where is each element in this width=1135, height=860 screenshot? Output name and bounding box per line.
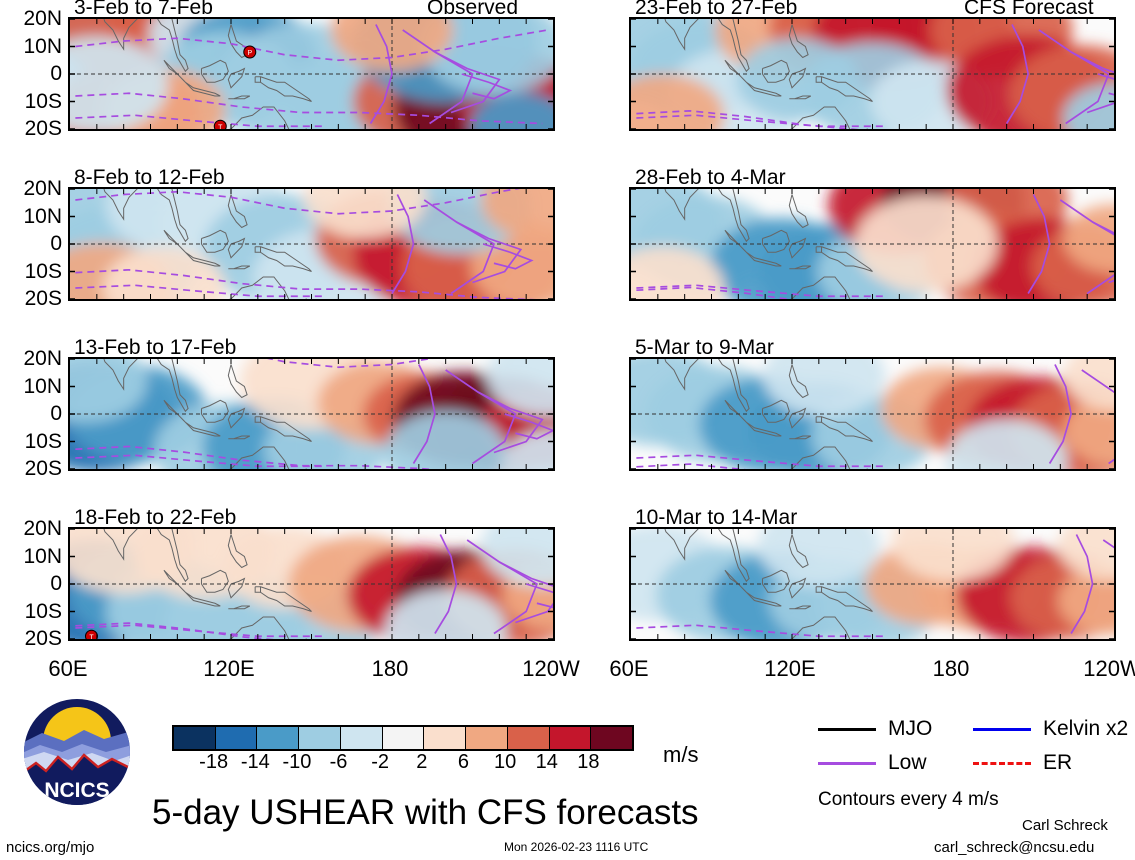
x-tick-label: 120W: [1080, 658, 1135, 680]
author-name: Carl Schreck: [1022, 818, 1108, 833]
x-tick-label: 180: [919, 658, 983, 680]
contours-note: Contours every 4 m/s: [818, 790, 999, 809]
panel-title-p5: 23-Feb to 27-Feb: [635, 0, 797, 18]
y-tick-label: 0: [0, 233, 62, 254]
legend-swatch-kelvin-x2: [973, 728, 1031, 731]
y-tick-label: 10N: [0, 206, 62, 227]
y-tick-label: 10N: [0, 36, 62, 57]
x-tick-label: 120W: [519, 658, 583, 680]
y-tick-label: 10N: [0, 546, 62, 567]
svg-text:T: T: [218, 124, 223, 129]
panel-title-p8: 10-Mar to 14-Mar: [635, 507, 797, 528]
storm-marker: T: [85, 630, 97, 639]
x-tick-label: 120E: [197, 658, 261, 680]
colorbar-swatch: [590, 727, 632, 749]
y-tick-label: 0: [0, 573, 62, 594]
map-panel-p8[interactable]: [629, 527, 1116, 641]
y-tick-label: 0: [0, 403, 62, 424]
ncics-logo: NCICS: [22, 697, 132, 807]
panel-title-p3: 13-Feb to 17-Feb: [74, 337, 236, 358]
y-tick-label: 20N: [0, 8, 62, 29]
y-tick-label: 10N: [0, 376, 62, 397]
svg-text:T: T: [89, 634, 94, 639]
colorbar-swatch: [256, 727, 298, 749]
colorbar-swatch: [298, 727, 340, 749]
panel-title-p7: 5-Mar to 9-Mar: [635, 337, 774, 358]
legend-label-er: ER: [1043, 752, 1072, 773]
colorbar-swatch: [549, 727, 591, 749]
storm-marker: P: [244, 46, 256, 58]
y-tick-label: 20N: [0, 518, 62, 539]
map-panel-p2[interactable]: [68, 187, 555, 301]
legend-swatch-low: [818, 762, 876, 765]
y-tick-label: 20N: [0, 178, 62, 199]
panel-title-p4: 18-Feb to 22-Feb: [74, 507, 236, 528]
main-title: 5-day USHEAR with CFS forecasts: [152, 795, 699, 830]
y-tick-label: 10S: [0, 431, 62, 452]
map-panel-p1[interactable]: PT: [68, 17, 555, 131]
colorbar-swatch: [215, 727, 257, 749]
svg-text:P: P: [247, 50, 252, 57]
colorbar-swatch: [465, 727, 507, 749]
legend-swatch-mjo: [818, 728, 876, 731]
colorbar-swatch: [340, 727, 382, 749]
map-panel-p7[interactable]: [629, 357, 1116, 471]
map-panel-p6[interactable]: [629, 187, 1116, 301]
column-header-left: Observed: [427, 0, 518, 18]
column-header-right: CFS Forecast: [964, 0, 1094, 18]
map-panel-p5[interactable]: [629, 17, 1116, 131]
y-tick-label: 0: [0, 63, 62, 84]
x-tick-label: 120E: [758, 658, 822, 680]
panel-title-p1: 3-Feb to 7-Feb: [74, 0, 213, 18]
site-link[interactable]: ncics.org/mjo: [6, 840, 94, 855]
legend-label-low: Low: [888, 752, 927, 773]
map-panel-p3[interactable]: [68, 357, 555, 471]
y-tick-label: 10S: [0, 261, 62, 282]
colorbar-units: m/s: [663, 744, 698, 766]
y-tick-label: 10S: [0, 91, 62, 112]
author-email: carl_schreck@ncsu.edu: [934, 840, 1094, 855]
panel-title-p6: 28-Feb to 4-Mar: [635, 167, 786, 188]
generation-timestamp: Mon 2026-02-23 1116 UTC: [504, 841, 648, 853]
storm-marker: T: [214, 120, 226, 129]
panel-title-p2: 8-Feb to 12-Feb: [74, 167, 225, 188]
y-tick-label: 10S: [0, 601, 62, 622]
colorbar: [172, 725, 634, 751]
x-tick-label: 60E: [36, 658, 100, 680]
y-tick-label: 20S: [0, 458, 62, 479]
logo-text: NCICS: [44, 779, 109, 802]
x-tick-label: 60E: [597, 658, 661, 680]
colorbar-swatch: [174, 727, 215, 749]
y-tick-label: 20N: [0, 348, 62, 369]
colorbar-swatch: [423, 727, 465, 749]
legend-label-kelvin-x2: Kelvin x2: [1043, 718, 1128, 739]
legend-label-mjo: MJO: [888, 718, 932, 739]
colorbar-tick-label: 18: [563, 752, 613, 772]
colorbar-swatch: [382, 727, 424, 749]
y-tick-label: 20S: [0, 118, 62, 139]
x-tick-label: 180: [358, 658, 422, 680]
y-tick-label: 20S: [0, 288, 62, 309]
y-tick-label: 20S: [0, 628, 62, 649]
colorbar-swatch: [507, 727, 549, 749]
legend-swatch-er: [973, 762, 1031, 765]
map-panel-p4[interactable]: T: [68, 527, 555, 641]
